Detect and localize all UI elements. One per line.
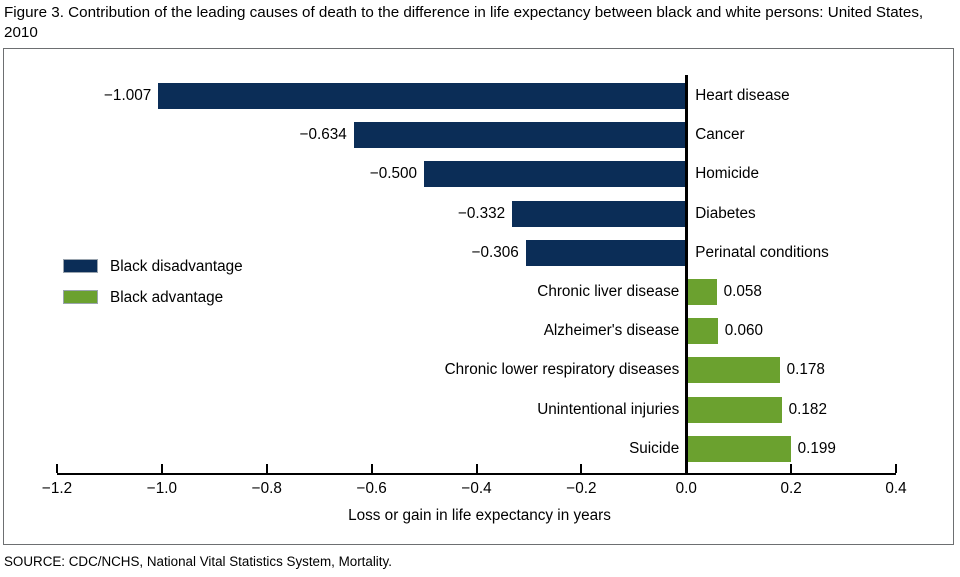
category-label-homicide: Homicide: [695, 161, 759, 187]
x-tick-neg0p8: [266, 464, 268, 473]
x-tick-neg0p2: [580, 464, 582, 473]
bar-perinatal-conditions: [526, 240, 686, 266]
category-label-alzheimer-s-disease: Alzheimer's disease: [544, 318, 680, 344]
x-tick-neg0p6: [371, 464, 373, 473]
x-axis-line: [57, 473, 896, 475]
x-tick-neg0p4: [476, 464, 478, 473]
bar-suicide: [686, 436, 790, 462]
x-tick-neg1p0: [161, 464, 163, 473]
x-tick-label-neg0p4: −0.4: [437, 480, 517, 498]
x-tick-0p0: [685, 464, 687, 473]
category-label-chronic-lower-respiratory-diseases: Chronic lower respiratory diseases: [445, 357, 680, 383]
page-title: Figure 3. Contribution of the leading ca…: [4, 3, 954, 43]
chart-frame: Heart disease−1.007Cancer−0.634Homicide−…: [3, 48, 954, 545]
x-tick-label-0p0: 0.0: [646, 480, 726, 498]
category-label-unintentional-injuries: Unintentional injuries: [537, 397, 679, 423]
x-tick-neg1p2: [56, 464, 58, 473]
value-label-diabetes: −0.332: [458, 201, 505, 227]
zero-axis-line: [685, 75, 688, 473]
bar-homicide: [424, 161, 686, 187]
category-label-diabetes: Diabetes: [695, 201, 755, 227]
x-tick-label-neg1p0: −1.0: [122, 480, 202, 498]
x-tick-label-neg0p6: −0.6: [332, 480, 412, 498]
x-tick-0p4: [895, 464, 897, 473]
category-label-heart-disease: Heart disease: [695, 83, 789, 109]
legend-label-black-disadvantage: Black disadvantage: [110, 253, 243, 281]
legend-swatch-navy: [63, 259, 98, 273]
bar-heart-disease: [158, 83, 686, 109]
value-label-homicide: −0.500: [370, 161, 417, 187]
x-tick-label-neg0p2: −0.2: [541, 480, 621, 498]
value-label-chronic-lower-respiratory-diseases: 0.178: [787, 357, 825, 383]
x-tick-label-0p4: 0.4: [856, 480, 936, 498]
category-label-chronic-liver-disease: Chronic liver disease: [537, 279, 679, 305]
chart-plot-area: Heart disease−1.007Cancer−0.634Homicide−…: [4, 49, 955, 546]
bar-chronic-lower-respiratory-diseases: [686, 357, 779, 383]
bar-diabetes: [512, 201, 686, 227]
category-label-suicide: Suicide: [629, 436, 679, 462]
bar-chronic-liver-disease: [686, 279, 716, 305]
x-tick-label-neg0p8: −0.8: [227, 480, 307, 498]
bar-alzheimer-s-disease: [686, 318, 717, 344]
bar-cancer: [354, 122, 686, 148]
value-label-unintentional-injuries: 0.182: [789, 397, 827, 423]
x-tick-label-neg1p2: −1.2: [17, 480, 97, 498]
x-tick-0p2: [790, 464, 792, 473]
category-label-cancer: Cancer: [695, 122, 744, 148]
legend-label-black-advantage: Black advantage: [110, 284, 223, 312]
x-axis-title: Loss or gain in life expectancy in years: [4, 507, 955, 525]
source-note: SOURCE: CDC/NCHS, National Vital Statist…: [4, 553, 392, 570]
category-label-perinatal-conditions: Perinatal conditions: [695, 240, 829, 266]
value-label-heart-disease: −1.007: [104, 83, 151, 109]
value-label-suicide: 0.199: [798, 436, 836, 462]
value-label-chronic-liver-disease: 0.058: [724, 279, 762, 305]
value-label-alzheimer-s-disease: 0.060: [725, 318, 763, 344]
legend-swatch-green: [63, 290, 98, 304]
value-label-perinatal-conditions: −0.306: [472, 240, 519, 266]
value-label-cancer: −0.634: [300, 122, 347, 148]
bar-unintentional-injuries: [686, 397, 781, 423]
x-tick-label-0p2: 0.2: [751, 480, 831, 498]
